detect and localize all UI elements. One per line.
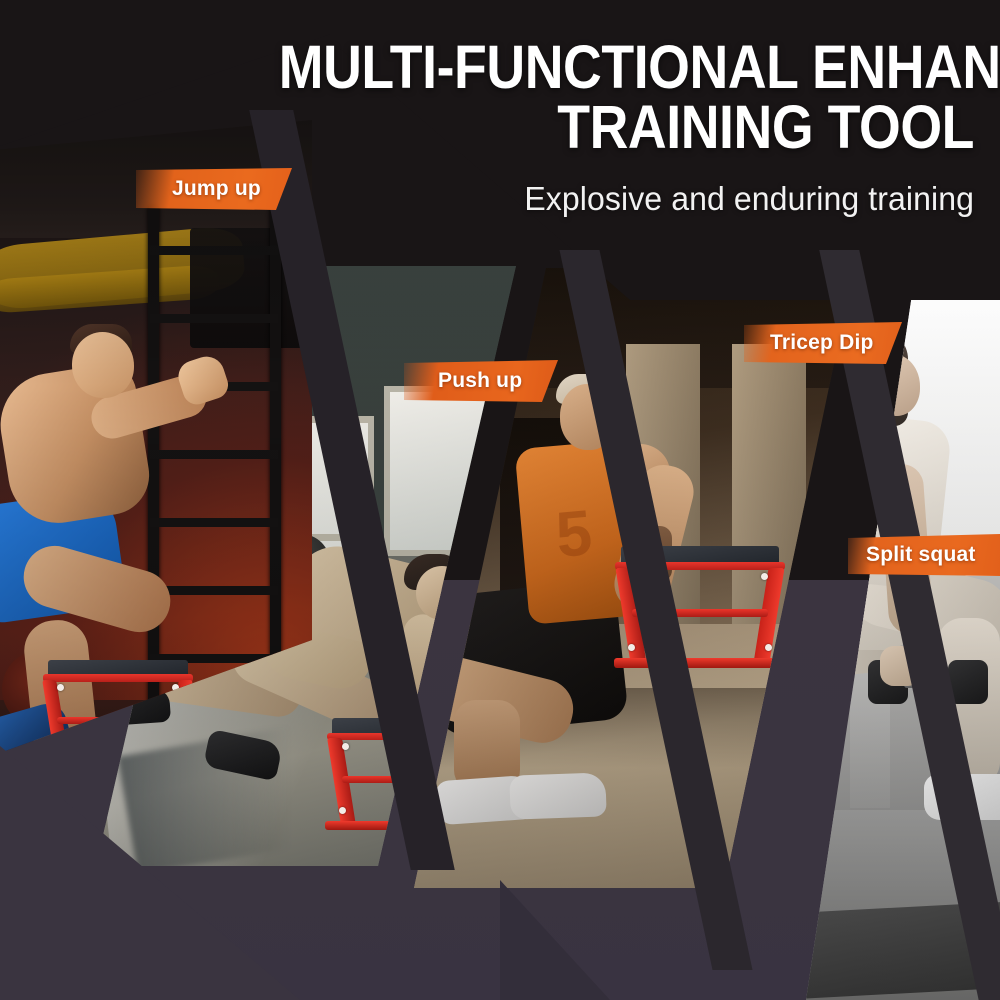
plyo-box-icon bbox=[610, 546, 790, 668]
badge-jump-up-label: Jump up bbox=[172, 177, 261, 201]
badge-split-squat-label: Split squat bbox=[866, 543, 976, 567]
badge-split-squat: Split squat bbox=[848, 534, 1000, 576]
badge-tricep-dip-label: Tricep Dip bbox=[770, 331, 874, 355]
badge-tricep-dip: Tricep Dip bbox=[744, 322, 902, 364]
floor-mat bbox=[806, 895, 1000, 999]
athlete3-head bbox=[560, 384, 616, 450]
badge-push-up: Push up bbox=[404, 360, 558, 402]
athlete-head bbox=[72, 332, 134, 398]
product-banner: MULTI-FUNCTIONAL ENHANCED TRAINING TOOL … bbox=[0, 0, 1000, 1000]
athlete4-hand bbox=[880, 646, 922, 686]
athlete3-shoe-right bbox=[509, 772, 606, 819]
badge-jump-up: Jump up bbox=[136, 168, 292, 210]
athlete4-shoe bbox=[924, 774, 1000, 820]
badge-push-up-label: Push up bbox=[438, 369, 522, 393]
